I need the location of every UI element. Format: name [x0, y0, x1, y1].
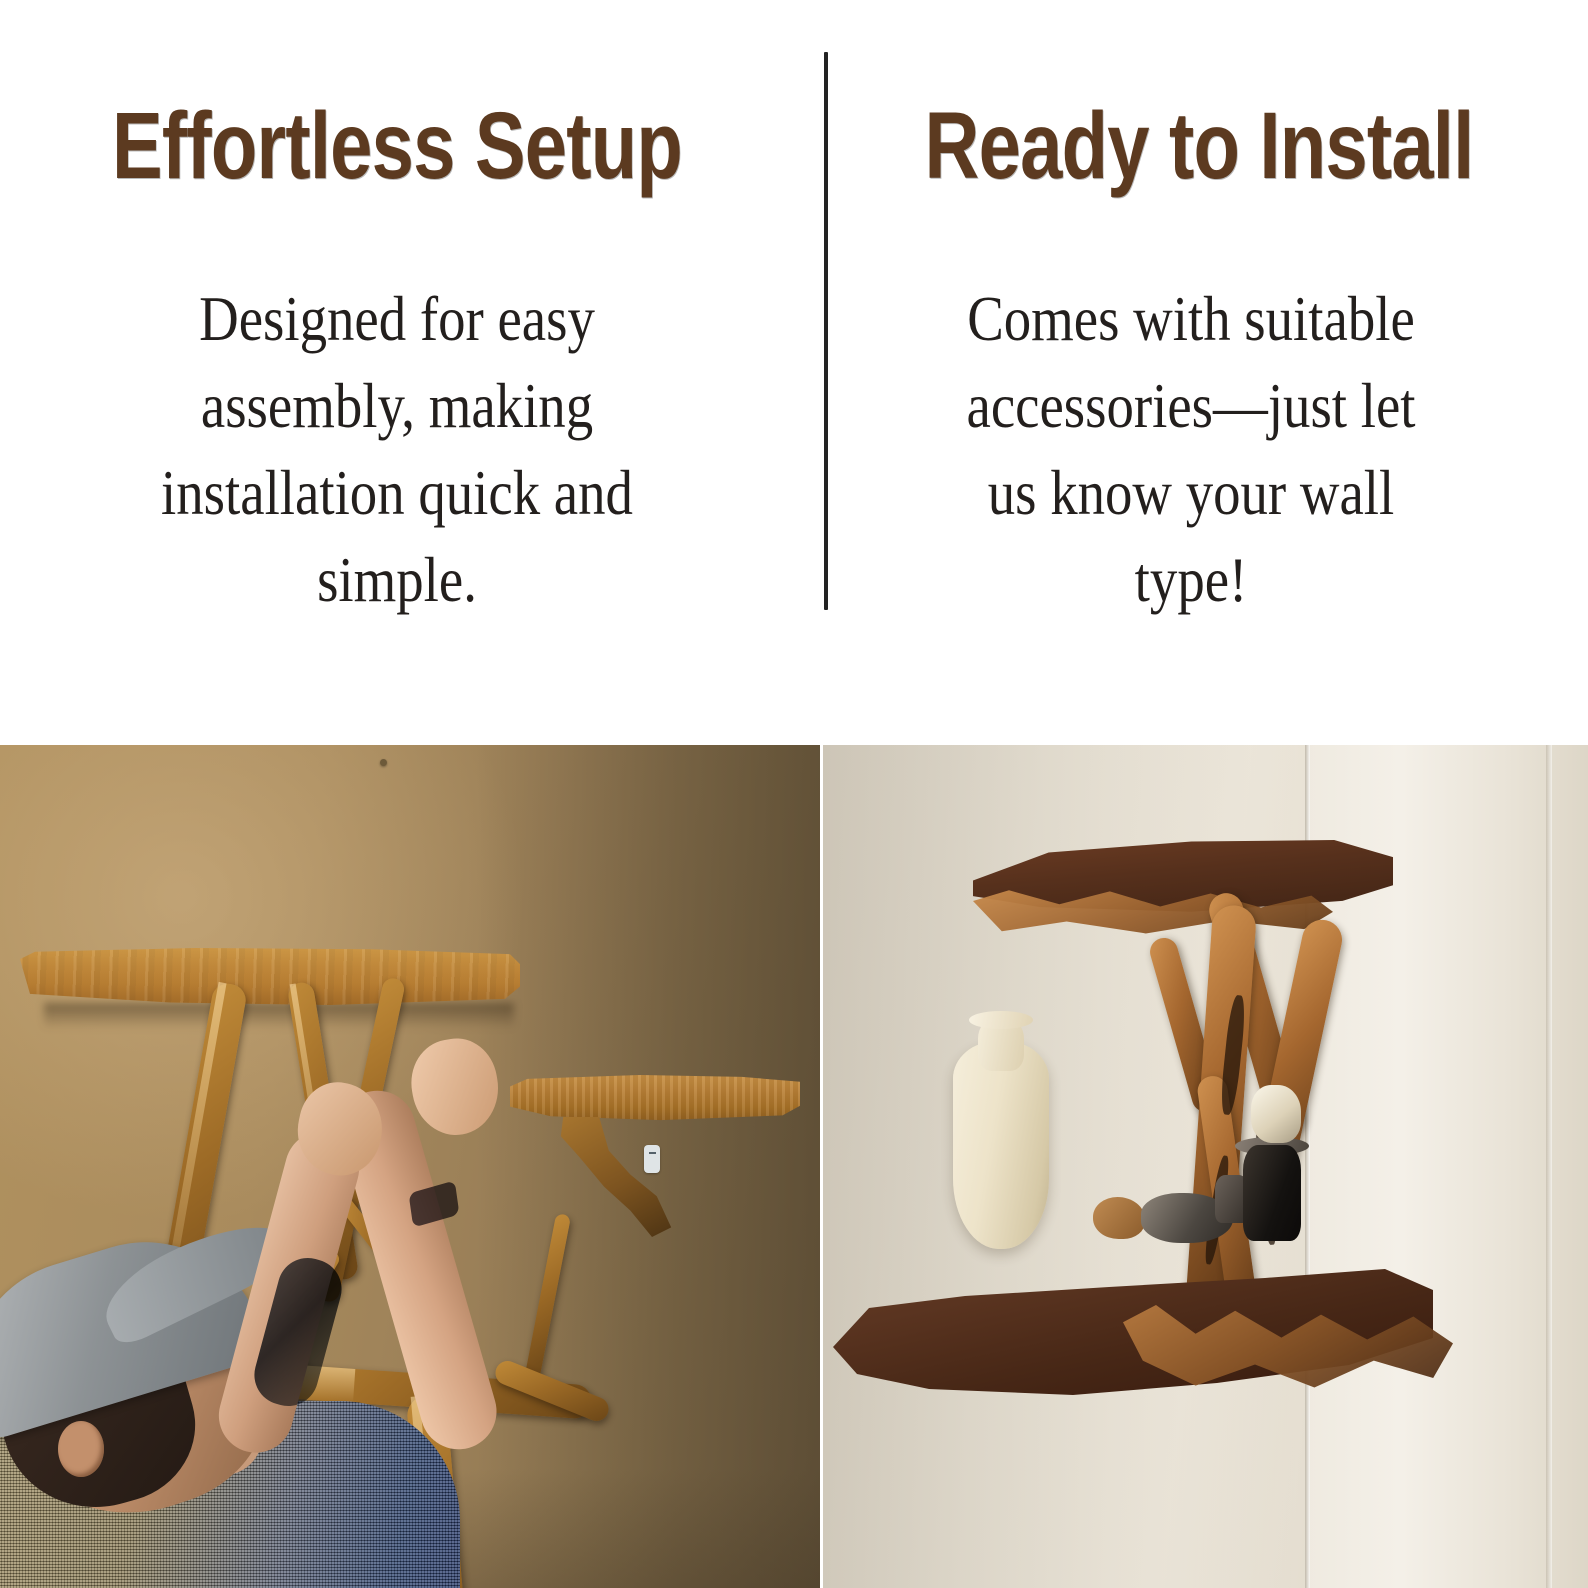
photo-band: [0, 745, 1588, 1588]
photo-installed-shelf: [823, 745, 1588, 1588]
small-wood-shelf: [510, 1075, 800, 1123]
body-effortless-setup: Designed for easy assembly, making insta…: [52, 276, 743, 624]
body-line: installation quick and: [52, 450, 743, 537]
white-crystal-decor: [1251, 1085, 1301, 1143]
body-line: Designed for easy: [52, 276, 743, 363]
person-installing: [0, 1215, 540, 1588]
amber-stone-decor: [1093, 1197, 1145, 1239]
body-ready-to-install: Comes with suitable accessories—just let…: [846, 276, 1537, 624]
cream-ceramic-vase: [953, 1041, 1049, 1249]
heading-effortless-setup: Effortless Setup: [79, 96, 714, 196]
vase-lip: [969, 1011, 1033, 1029]
body-line: assembly, making: [52, 363, 743, 450]
body-line: type!: [846, 537, 1537, 624]
ear: [58, 1421, 104, 1477]
text-band: Effortless Setup Designed for easy assem…: [0, 0, 1588, 745]
heading-ready-to-install: Ready to Install: [881, 96, 1516, 196]
hardware-label: [644, 1145, 660, 1173]
body-line: Comes with suitable: [846, 276, 1537, 363]
photo-installation-in-progress: [0, 745, 820, 1588]
wall-outer-edge: [1546, 745, 1552, 1588]
wood-grain: [510, 1075, 800, 1123]
column-ready-to-install: Ready to Install Comes with suitable acc…: [794, 0, 1588, 745]
promo-image-root: Effortless Setup Designed for easy assem…: [0, 0, 1588, 1588]
wall-nail: [380, 759, 387, 766]
body-line: simple.: [52, 537, 743, 624]
body-line: us know your wall: [846, 450, 1537, 537]
body-line: accessories—just let: [846, 363, 1537, 450]
column-effortless-setup: Effortless Setup Designed for easy assem…: [0, 0, 794, 745]
black-vessel-decor: [1243, 1145, 1301, 1241]
